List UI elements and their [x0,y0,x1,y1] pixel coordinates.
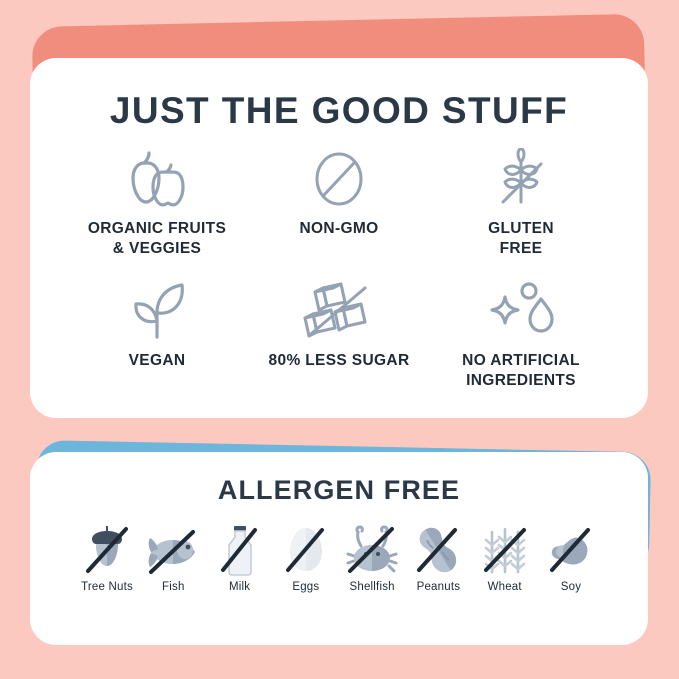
leaf-sprout-icon [122,280,192,342]
peanut-icon [415,520,461,576]
benefit-less-sugar: 80% LESS SUGAR [248,280,430,404]
wheat-slash-icon [488,148,554,210]
poster-stage: JUST THE GOOD STUFF ORGANIC FRUITS & VEG… [0,0,679,679]
benefit-grid: ORGANIC FRUITS & VEGGIES NON-GMO [30,148,648,404]
allergen-fish: Fish [140,520,206,593]
soybean-icon [548,520,594,576]
allergen-label: Tree Nuts [81,581,133,593]
benefit-label: VEGAN [129,351,186,371]
allergen-milk: Milk [207,520,273,593]
benefit-organic-fruits-veggies: ORGANIC FRUITS & VEGGIES [66,148,248,272]
benefit-label: NON-GMO [299,219,378,239]
allergen-label: Milk [229,581,250,593]
sugar-cubes-slash-icon [299,280,379,342]
allergen-shellfish: Shellfish [339,520,405,593]
egg-icon [284,520,328,576]
no-gmo-icon [309,148,369,210]
allergen-label: Shellfish [349,581,394,593]
allergen-wheat: Wheat [472,520,538,593]
allergen-label: Soy [561,581,581,593]
sparkle-droplet-icon [483,280,559,342]
allergen-tree-nuts: Tree Nuts [74,520,140,593]
allergen-eggs: Eggs [273,520,339,593]
benefit-label: 80% LESS SUGAR [269,351,410,371]
allergen-label: Peanuts [417,581,461,593]
wheat-icon [480,520,530,576]
allergen-row: Tree Nuts [30,520,648,593]
allergen-soy: Soy [538,520,604,593]
allergen-label: Fish [162,581,185,593]
benefit-gluten-free: GLUTEN FREE [430,148,612,272]
allergen-label: Wheat [488,581,522,593]
benefit-label: ORGANIC FRUITS & VEGGIES [88,219,226,259]
benefit-label: NO ARTIFICIAL INGREDIENTS [462,351,580,391]
benefit-label: GLUTEN FREE [488,219,554,259]
good-stuff-title: JUST THE GOOD STUFF [30,90,648,132]
milk-bottle-icon [219,520,261,576]
pear-apple-icon [119,148,195,210]
benefit-vegan: VEGAN [66,280,248,404]
allergen-label: Eggs [292,581,319,593]
fish-icon [147,520,199,576]
allergen-peanuts: Peanuts [405,520,471,593]
allergen-free-title: ALLERGEN FREE [30,475,648,506]
good-stuff-card: JUST THE GOOD STUFF ORGANIC FRUITS & VEG… [30,58,648,418]
benefit-non-gmo: NON-GMO [248,148,430,272]
allergen-free-card: ALLERGEN FREE Tree Nuts [30,452,648,645]
acorn-icon [83,520,131,576]
crab-icon [345,520,399,576]
benefit-no-artificial-ingredients: NO ARTIFICIAL INGREDIENTS [430,280,612,404]
